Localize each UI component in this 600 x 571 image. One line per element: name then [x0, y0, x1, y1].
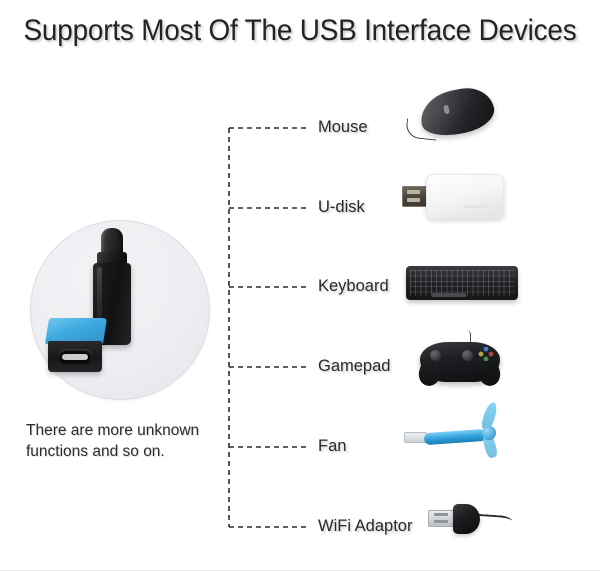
- device-label-fan: Fan: [318, 437, 346, 456]
- flash-drive-body: [426, 174, 504, 219]
- keyboard-spacebar: [432, 293, 466, 297]
- gamepad-icon: [414, 330, 506, 390]
- product-caption-line-1: There are more unknown: [26, 420, 226, 441]
- gamepad-stick-left: [430, 350, 441, 361]
- keyboard-icon: [406, 262, 518, 306]
- usb-adapter-infographic: Supports Most Of The USB Interface Devic…: [0, 0, 600, 571]
- usb-c-otg-adapter-blue-icon: [45, 318, 107, 380]
- page-title: Supports Most Of The USB Interface Devic…: [21, 14, 579, 48]
- usb-c-port-opening: [58, 349, 92, 364]
- usb-flash-drive-icon: [402, 172, 510, 224]
- usb-c-plug-tip: [101, 228, 123, 254]
- fan-hub: [482, 426, 496, 440]
- usb-fan-icon: [404, 404, 516, 462]
- device-label-gamepad: Gamepad: [318, 357, 390, 376]
- usb-a-connector: [402, 186, 428, 207]
- device-label-udisk: U-disk: [318, 198, 365, 217]
- wifi-usb-connector: [428, 510, 456, 527]
- gamepad-face-buttons: [478, 347, 494, 361]
- fan-flexible-neck: [424, 429, 487, 445]
- device-label-keyboard: Keyboard: [318, 277, 389, 296]
- device-label-mouse: Mouse: [318, 118, 368, 137]
- keyboard-base: [406, 266, 518, 300]
- gamepad-stick-right: [462, 350, 473, 361]
- wifi-adaptor-icon: [428, 500, 518, 542]
- wifi-antenna-cable: [478, 514, 513, 528]
- wifi-dongle-body: [453, 504, 480, 534]
- mouse-icon: [406, 86, 506, 148]
- device-label-wifi: WiFi Adaptor: [318, 517, 412, 536]
- product-caption-line-2: functions and so on.: [26, 441, 226, 462]
- product-caption: There are more unknown functions and so …: [26, 420, 226, 462]
